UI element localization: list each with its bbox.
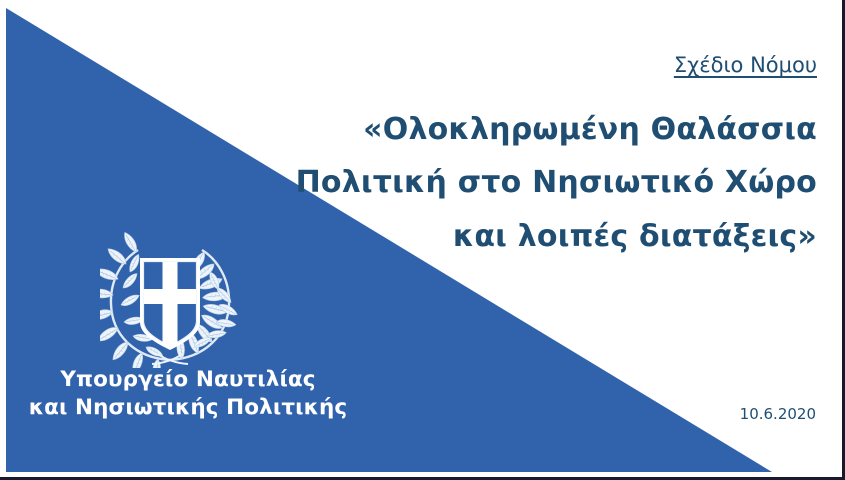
coat-of-arms-emblem: [100, 232, 240, 368]
ministry-name: Υπουργείο Ναυτιλίας και Νησιωτικής Πολιτ…: [18, 366, 358, 421]
presentation-slide: Υπουργείο Ναυτιλίας και Νησιωτικής Πολιτ…: [0, 0, 845, 480]
document-title-line-2: Πολιτική στο Νησιωτικό Χώρο: [257, 156, 817, 209]
document-title-line-1: «Ολοκληρωμένη Θαλάσσια: [257, 103, 817, 156]
ministry-name-line-1: Υπουργείο Ναυτιλίας: [18, 366, 358, 394]
document-title-line-3: και λοιπές διατάξεις»: [257, 210, 817, 263]
document-date: 10.6.2020: [740, 405, 816, 423]
shield: [140, 258, 200, 350]
ministry-name-line-2: και Νησιωτικής Πολιτικής: [18, 394, 358, 422]
document-title: «Ολοκληρωμένη Θαλάσσια Πολιτική στο Νησι…: [257, 103, 817, 263]
document-kicker: Σχέδιο Νόμου: [674, 53, 817, 77]
